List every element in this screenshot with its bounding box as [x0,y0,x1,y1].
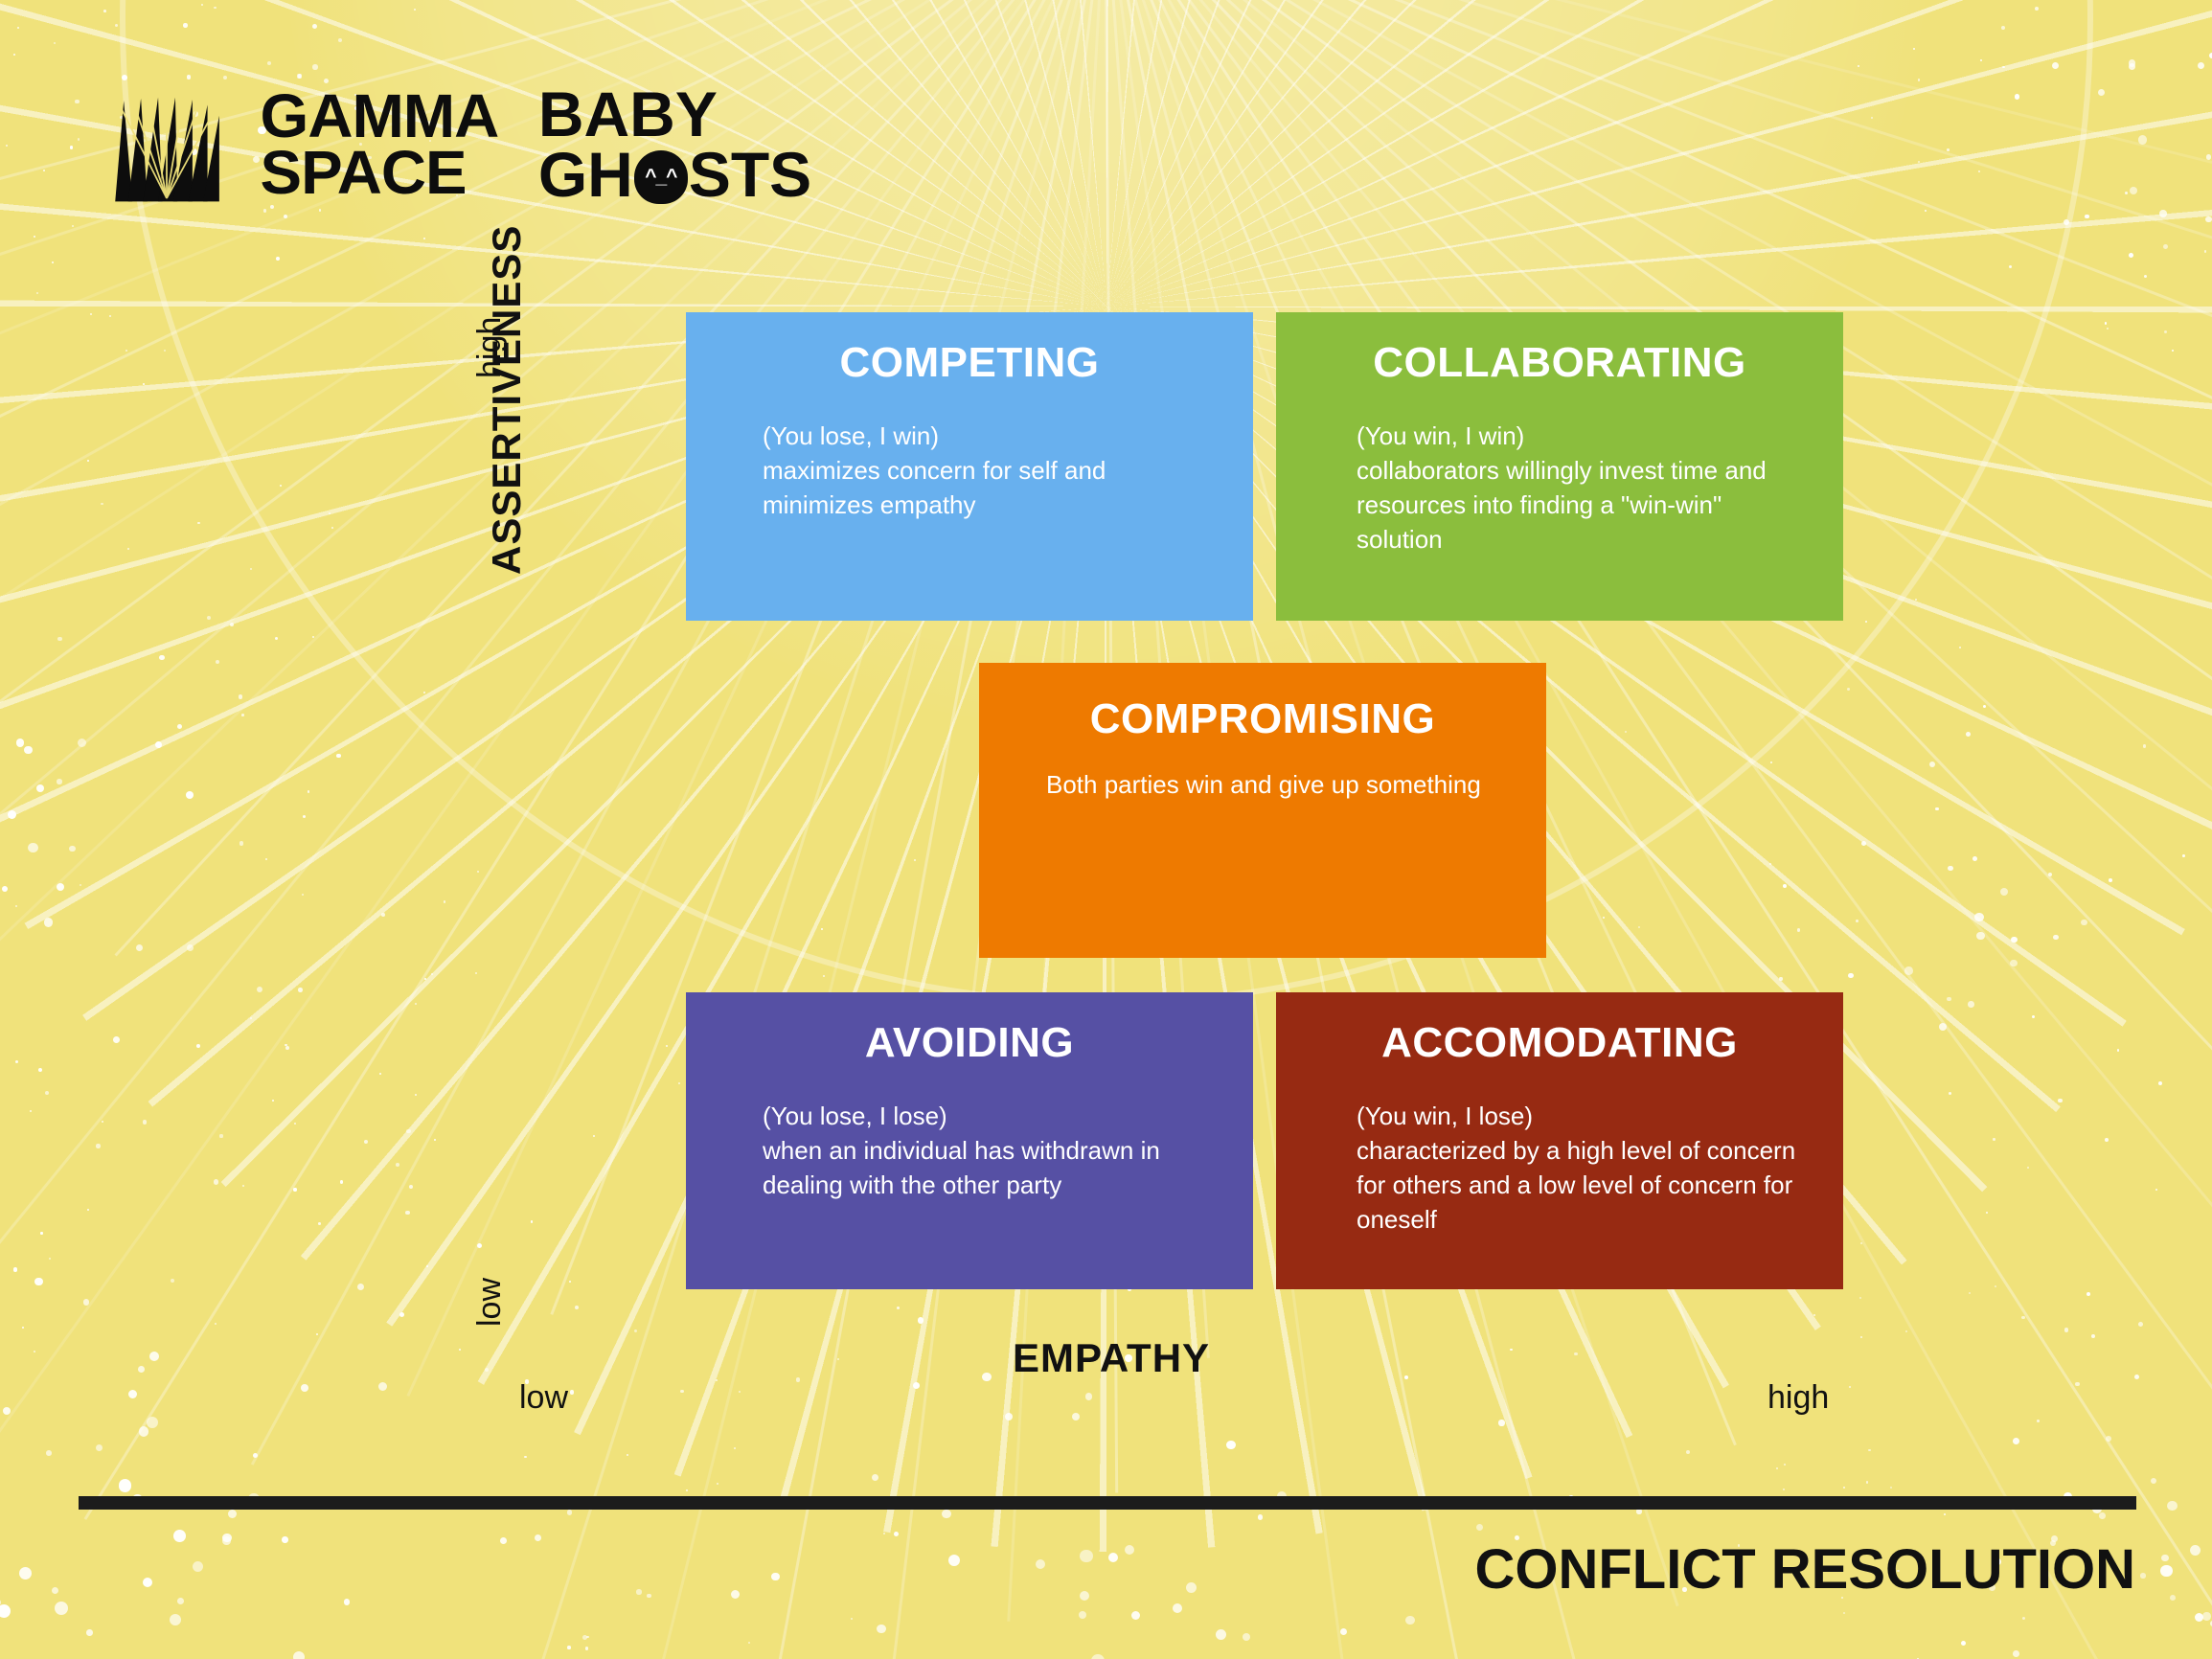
halftone-dot [57,637,62,642]
ghosts-text-part-1: GH [538,145,633,205]
halftone-dot [207,616,211,620]
halftone-dot [239,841,244,846]
halftone-dot [136,944,143,951]
halftone-dot [1108,1553,1118,1562]
halftone-dot [381,913,385,917]
halftone-dot [1949,1092,1951,1095]
halftone-dot [1603,917,1605,919]
halftone-dot [1969,1292,1971,1294]
halftone-dot [222,1536,231,1545]
halftone-dot [13,1267,17,1271]
halftone-dot [109,315,111,317]
halftone-dot [2172,350,2174,352]
halftone-dot [2167,1501,2177,1511]
cell-collaborating: COLLABORATING (You win, I win)collaborat… [1276,312,1843,621]
halftone-dot [2064,1328,2069,1332]
halftone-dot [1966,732,1971,737]
halftone-dot [796,1377,800,1381]
halftone-dot [1091,1654,1105,1659]
halftone-dot [187,944,194,951]
halftone-dot [2129,63,2135,70]
halftone-dot [284,215,287,218]
halftone-dot [593,1135,595,1137]
cell-accomodating-description: characterized by a high level of concern… [1357,1136,1795,1234]
halftone-dot [477,1243,482,1248]
halftone-dot [272,1100,274,1102]
halftone-dot [2052,62,2059,69]
halftone-dot [409,1185,413,1189]
halftone-dot [250,568,252,570]
halftone-dot [216,660,219,664]
halftone-dot [1216,1629,1226,1640]
halftone-dot [276,257,280,261]
halftone-dot [164,350,166,352]
halftone-dot [1510,1349,1513,1352]
halftone-dot [1080,1550,1093,1563]
halftone-dot [982,1373,992,1382]
halftone-dot [1947,997,1950,1001]
halftone-dot [1783,884,1787,888]
halftone-dot [1861,841,1866,846]
cell-competing-title: COMPETING [686,339,1253,387]
halftone-dot [2022,1617,2025,1620]
halftone-dot [52,261,54,263]
halftone-dot [1859,1297,1861,1299]
halftone-dot [312,64,317,69]
halftone-dot [1498,1420,1504,1425]
halftone-dot [2130,187,2137,194]
halftone-dot [171,1279,174,1283]
halftone-dot [872,1474,878,1481]
halftone-dot [424,978,426,980]
halftone-dot [1847,688,1850,691]
halftone-dot [459,1349,461,1351]
halftone-dot [1638,926,1640,928]
halftone-dot [265,858,267,860]
cell-accomodating-body: (You win, I lose)characterized by a high… [1357,1100,1799,1238]
halftone-dot [72,225,74,227]
halftone-dot [2159,210,2167,217]
halftone-dot [1843,1612,1845,1614]
halftone-dot [647,1594,651,1599]
halftone-dot [2195,1613,2203,1622]
gamma-line-1: GAMMA [261,88,499,145]
halftone-dot [1813,1314,1815,1316]
halftone-dot [2027,1167,2029,1169]
halftone-dot [364,1140,368,1144]
halftone-dot [897,1307,900,1309]
halftone-dot [2010,960,2017,966]
halftone-dot [1036,1559,1045,1569]
halftone-dot [257,987,262,992]
cell-competing-body: (You lose, I win)maximizes concern for s… [763,420,1215,523]
halftone-dot [1918,79,1920,80]
sun-ray-line [1106,0,2212,236]
halftone-dot [423,692,425,693]
halftone-dot [242,1185,244,1187]
halftone-dot [34,1351,35,1352]
halftone-dot [1860,1336,1862,1338]
halftone-dot [87,460,89,462]
halftone-dot [183,23,188,28]
halftone-dot [585,1647,588,1649]
halftone-dot [771,1573,780,1581]
halftone-dot [636,1589,641,1594]
halftone-dot [1939,1023,1947,1031]
halftone-dot [215,1323,217,1325]
halftone-dot [187,75,192,80]
halftone-dot [2091,1334,2095,1338]
halftone-dot [877,1625,885,1633]
halftone-dot [2064,219,2069,225]
halftone-dot [1340,1628,1347,1635]
halftone-dot [2206,154,2212,160]
halftone-dot [519,1000,521,1002]
halftone-dot [1995,1285,1996,1287]
halftone-dot [102,1121,103,1123]
halftone-dot [55,1602,68,1615]
sun-ray-line [84,0,1107,1520]
halftone-dot [139,1426,148,1436]
halftone-dot [1944,1513,1946,1515]
halftone-dot [2125,192,2128,194]
halftone-dot [1993,1138,1995,1140]
halftone-dot [1779,977,1782,980]
halftone-dot [275,637,278,640]
halftone-dot [1913,48,1915,50]
cell-competing: COMPETING (You lose, I win)maximizes con… [686,312,1253,621]
halftone-dot [115,24,118,27]
halftone-dot [575,1306,579,1309]
halftone-dot [49,1258,51,1260]
x-axis-low-label: low [519,1379,568,1417]
halftone-dot [2134,1375,2139,1379]
halftone-dot [821,928,823,930]
halftone-dot [219,1134,222,1137]
halftone-dot [569,1281,572,1284]
halftone-dot [96,1444,103,1451]
halftone-dot [2198,62,2204,69]
ghosts-line: GH ^_^ STS [538,145,811,205]
cell-collaborating-title: COLLABORATING [1276,339,1843,387]
halftone-dot [336,754,340,758]
halftone-dot [1918,161,1920,163]
halftone-dot [1890,1487,1892,1489]
halftone-dot [2048,873,2052,876]
halftone-dot [173,1530,186,1542]
halftone-dot [2144,275,2147,278]
halftone-dot [2098,89,2105,96]
halftone-dot [2032,1015,2035,1018]
halftone-dot [344,1599,350,1604]
halftone-dot [823,975,825,977]
halftone-dot [2002,66,2005,69]
halftone-dot [1973,856,1977,861]
halftone-dot [17,27,19,29]
halftone-dot [177,724,182,729]
halftone-dot [1974,913,1984,922]
halftone-dot [1797,928,1801,932]
halftone-dot [298,74,302,78]
halftone-dot [1636,1509,1642,1514]
halftone-dot [78,739,86,747]
halftone-dot [147,1417,158,1428]
halftone-dot [44,918,54,927]
halftone-dot [214,7,217,10]
halftone-dot [913,1382,920,1389]
halftone-dot [500,1537,507,1544]
halftone-dot [918,1317,924,1323]
halftone-dot [406,1129,410,1133]
halftone-dot [298,988,303,992]
halftone-dot [177,1598,184,1604]
halftone-dot [2202,1612,2210,1620]
halftone-dot [2087,1292,2090,1296]
halftone-dot [267,61,271,65]
halftone-dot [1574,1352,1578,1356]
footer-divider [79,1496,2136,1510]
halftone-dot [1866,1481,1868,1483]
halftone-dot [680,1390,683,1393]
gamma-space-wordmark: GAMMA SPACE [261,88,499,201]
halftone-dot [70,146,73,148]
halftone-dot [122,75,127,80]
halftone-dot [57,883,65,892]
halftone-dot [2081,920,2087,925]
halftone-dot [1849,1386,1851,1388]
sun-ray-line [0,0,1106,1582]
halftone-dot [149,1352,159,1361]
halftone-dot [1131,1611,1141,1621]
cell-compromising-description: Both parties win and give up something [1046,768,1508,803]
halftone-dot [1080,1591,1089,1601]
halftone-dot [239,694,243,699]
halftone-dot [379,1073,381,1075]
halftone-dot [127,548,129,550]
halftone-dot [2085,215,2088,218]
cell-accomodating: ACCOMODATING (You win, I lose)characteri… [1276,992,1843,1289]
halftone-dot [316,1333,318,1335]
halftone-dot [678,1082,680,1084]
halftone-dot [2138,1322,2143,1327]
halftone-dot [378,1382,387,1391]
halftone-dot [586,1636,589,1639]
halftone-dot [2138,135,2148,145]
halftone-dot [1625,731,1627,733]
halftone-dot [2075,1382,2079,1386]
halftone-dot [477,871,479,873]
halftone-dot [253,1453,258,1458]
halftone-dot [942,1510,950,1518]
halftone-dot [1776,1467,1778,1469]
halftone-dot [223,76,227,80]
halftone-dot [1868,1449,1870,1451]
halftone-dot [193,1561,203,1572]
halftone-dot [948,1555,960,1566]
halftone-dot [2163,244,2168,249]
halftone-dot [0,1604,11,1618]
halftone-dot [302,894,304,896]
halftone-dot [34,236,35,238]
halftone-dot [338,38,342,42]
halftone-dot [329,512,331,514]
halftone-dot [567,1510,573,1515]
halftone-dot [263,209,266,212]
halftone-dot [2129,59,2136,67]
halftone-dot [2161,1555,2169,1562]
halftone-dot [119,1479,131,1491]
halftone-dot [2105,322,2108,325]
halftone-dot [2109,878,2112,882]
halftone-dot [103,10,106,12]
halftone-dot [2053,935,2058,940]
halftone-dot [113,1036,120,1043]
halftone-dot [1173,1603,1182,1613]
halftone-dot [1686,1450,1690,1454]
cell-compromising-title: COMPROMISING [979,695,1546,743]
halftone-dot [748,1642,750,1644]
halftone-dot [717,1483,718,1485]
halftone-dot [155,741,162,748]
cell-collaborating-body: (You win, I win)collaborators willingly … [1357,420,1799,557]
halftone-dot [734,1447,736,1449]
halftone-dot [214,1179,218,1184]
halftone-dot [16,739,25,747]
halftone-dot [101,503,103,506]
halftone-dot [143,383,145,385]
halftone-dot [196,1044,200,1048]
halftone-dot [2151,1478,2156,1484]
halftone-dot [434,1139,436,1141]
halftone-dot [837,1358,839,1360]
halftone-dot [415,1094,417,1096]
halftone-dot [2155,1189,2157,1191]
halftone-dot [716,1379,718,1381]
halftone-dot [1948,866,1953,872]
halftone-dot [2013,1650,2019,1657]
halftone-dot [52,1587,58,1594]
brand-logos: GAMMA SPACE BABY GH ^_^ STS [113,84,811,204]
halftone-dot [1905,1330,1907,1332]
halftone-dot [2117,1049,2120,1052]
halftone-dot [36,292,38,294]
halftone-dot [1976,932,1985,941]
halftone-dot [894,1532,899,1536]
cell-avoiding: AVOIDING (You lose, I lose)when an indiv… [686,992,1253,1289]
halftone-dot [1186,1582,1197,1593]
cell-collaborating-description: collaborators willingly invest time and … [1357,456,1767,554]
halftone-dot [914,859,916,861]
halftone-dot [1968,1001,1974,1008]
halftone-dot [143,1578,152,1587]
halftone-dot [2129,253,2133,258]
cell-avoiding-description: when an individual has withdrawn in deal… [763,1136,1160,1199]
halftone-dot [431,973,433,975]
halftone-dot [34,1278,42,1285]
halftone-dot [2035,7,2039,11]
halftone-dot [2182,854,2185,857]
halftone-dot [2011,937,2018,943]
halftone-dot [2190,1545,2201,1557]
halftone-dot [280,485,282,487]
halftone-dot [567,1646,571,1649]
halftone-dot [1978,170,1980,172]
halftone-dot [170,1614,181,1625]
halftone-dot [90,313,92,315]
halftone-dot [1858,65,1859,67]
halftone-dot [883,1533,885,1534]
halftone-dot [143,1120,147,1124]
halftone-dot [2205,216,2212,223]
halftone-dot [399,1312,404,1317]
halftone-dot [2106,1436,2111,1442]
cell-avoiding-body: (You lose, I lose)when an individual has… [763,1100,1215,1203]
halftone-dot [138,1366,145,1373]
halftone-dot [1947,148,1950,151]
halftone-dot [2015,94,2020,100]
halftone-dot [15,1060,19,1064]
x-axis-title: EMPATHY [1013,1335,1210,1381]
halftone-dot [86,1629,92,1635]
halftone-dot [415,1003,417,1005]
halftone-dot [250,1017,253,1020]
halftone-dot [96,1144,100,1148]
halftone-dot [83,1299,90,1306]
halftone-dot [19,1567,32,1579]
halftone-dot [197,522,199,524]
halftone-dot [1405,1616,1415,1625]
halftone-dot [1856,920,1859,922]
halftone-dot [531,1220,533,1222]
halftone-dot [318,1222,321,1225]
halftone-dot [1961,1641,1966,1646]
halftone-dot [1476,1524,1483,1531]
ghost-face-icon: ^_^ [634,150,688,204]
halftone-dot [1258,1514,1263,1519]
halftone-dot [80,884,81,886]
halftone-dot [228,1510,238,1519]
halftone-dot [78,138,80,140]
halftone-dot [331,527,333,529]
halftone-dot [1404,1375,1408,1379]
halftone-dot [627,1454,629,1457]
halftone-dot [319,209,321,211]
y-axis-title: ASSERTIVENESS [484,225,530,575]
halftone-dot [45,1091,49,1095]
halftone-dot [303,815,307,819]
halftone-dot [2,886,8,892]
cell-collaborating-outcome: (You win, I win) [1357,421,1524,450]
halftone-dot [2013,1438,2019,1444]
halftone-dot [666,1045,668,1047]
baby-ghosts-wordmark: BABY GH ^_^ STS [538,84,811,204]
halftone-dot [282,1536,287,1542]
cell-accomodating-title: ACCOMODATING [1276,1019,1843,1067]
halftone-dot [0,1600,1,1604]
halftone-dot [1085,1393,1092,1399]
halftone-dot [1770,761,1772,763]
halftone-dot [312,636,314,638]
halftone-dot [1243,1633,1250,1641]
halftone-dot [2164,330,2167,333]
cell-avoiding-outcome: (You lose, I lose) [763,1102,947,1130]
halftone-dot [357,1284,365,1291]
halftone-dot [1935,807,1938,810]
halftone-dot [1769,863,1771,865]
halftone-dot [24,746,33,755]
sunburst-mark-icon [113,85,220,204]
halftone-dot [43,170,45,171]
